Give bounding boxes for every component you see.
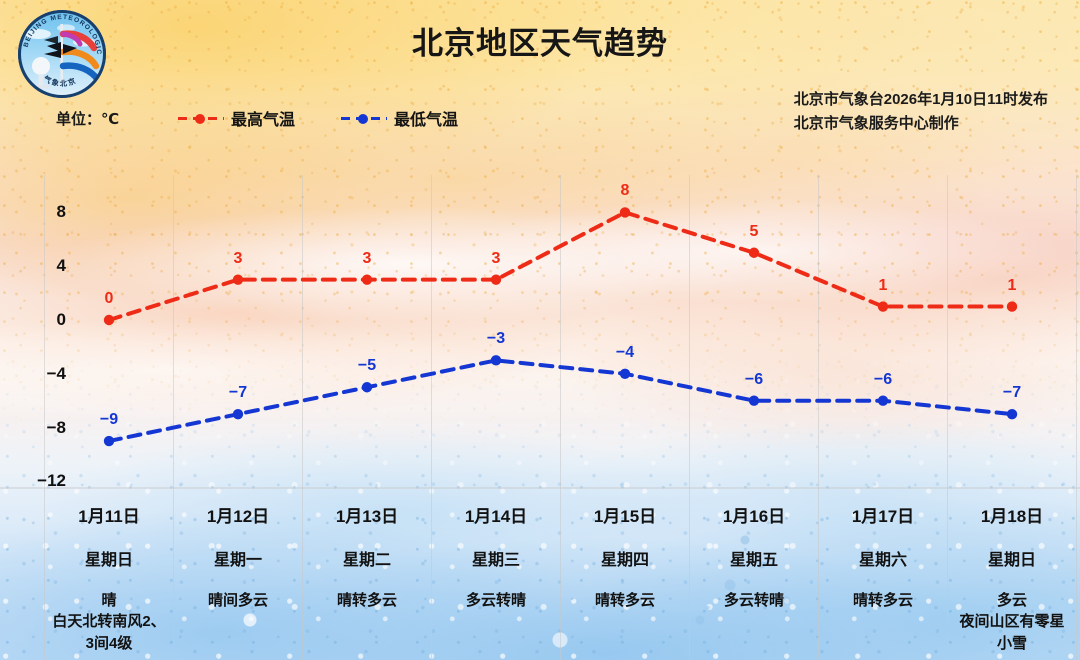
day-columns: 1月11日星期日晴白天北转南风2、3间4级1月12日星期一晴间多云1月13日星期… [0, 493, 1080, 660]
data-label-high: 1 [879, 277, 888, 295]
legend-item-low: 最低气温 [341, 106, 458, 130]
legend-item-high: 最高气温 [178, 106, 295, 130]
data-label-low: −3 [487, 330, 505, 348]
day-column: 1月17日星期六晴转多云 [819, 493, 948, 611]
day-weather-description: 晴间多云 [174, 590, 303, 611]
day-column: 1月18日星期日多云夜间山区有零星小雪 [948, 493, 1077, 654]
day-weather-description: 晴白天北转南风2、3间4级 [45, 590, 174, 654]
day-date: 1月15日 [561, 502, 690, 527]
day-date: 1月13日 [303, 502, 432, 527]
day-date: 1月12日 [174, 502, 303, 527]
day-weekday: 星期三 [432, 546, 561, 570]
day-weekday: 星期四 [561, 546, 690, 570]
data-label-high: 3 [363, 250, 372, 268]
day-weather-description: 晴转多云 [303, 590, 432, 611]
day-weather-description: 多云夜间山区有零星小雪 [948, 590, 1077, 654]
day-weekday: 星期五 [690, 546, 819, 570]
legend-label-low: 最低气温 [394, 106, 458, 130]
data-label-high: 3 [234, 250, 243, 268]
legend-marker-high-icon [178, 111, 224, 125]
day-column: 1月13日星期二晴转多云 [303, 493, 432, 611]
y-axis-tick-label: −8 [6, 418, 66, 438]
day-weather-description: 晴转多云 [819, 590, 948, 611]
y-axis-tick-label: 8 [6, 202, 66, 222]
day-date: 1月11日 [45, 502, 174, 527]
day-date: 1月16日 [690, 502, 819, 527]
day-date: 1月14日 [432, 502, 561, 527]
chart-legend: 最高气温 最低气温 [178, 106, 458, 130]
unit-label: 单位：℃ [56, 108, 119, 129]
day-date: 1月17日 [819, 502, 948, 527]
y-axis-tick-label: −12 [6, 471, 66, 491]
issuer-info: 北京市气象台2026年1月10日11时发布 北京市气象服务中心制作 [794, 88, 1048, 137]
issuer-line-2: 北京市气象服务中心制作 [794, 112, 1048, 136]
day-weekday: 星期二 [303, 546, 432, 570]
data-label-high: 1 [1008, 277, 1017, 295]
day-column: 1月14日星期三多云转晴 [432, 493, 561, 611]
data-label-low: −6 [745, 371, 763, 389]
day-date: 1月18日 [948, 502, 1077, 527]
day-weekday: 星期六 [819, 546, 948, 570]
data-label-high: 3 [492, 250, 501, 268]
data-label-low: −9 [100, 411, 118, 429]
day-weekday: 星期日 [45, 546, 174, 570]
data-label-high: 5 [750, 223, 759, 241]
data-label-low: −4 [616, 344, 634, 362]
y-axis-tick-label: 0 [6, 310, 66, 330]
day-column: 1月15日星期四晴转多云 [561, 493, 690, 611]
data-label-low: −7 [1003, 384, 1021, 402]
day-column: 1月16日星期五多云转晴 [690, 493, 819, 611]
data-label-low: −5 [358, 357, 376, 375]
day-column: 1月12日星期一晴间多云 [174, 493, 303, 611]
page-title: 北京地区天气趋势 [0, 18, 1080, 63]
data-label-low: −6 [874, 371, 892, 389]
day-weather-description: 晴转多云 [561, 590, 690, 611]
day-column: 1月11日星期日晴白天北转南风2、3间4级 [45, 493, 174, 654]
day-weekday: 星期一 [174, 546, 303, 570]
data-label-high: 0 [105, 290, 114, 308]
data-label-high: 8 [621, 182, 630, 200]
day-weekday: 星期日 [948, 546, 1077, 570]
issuer-line-1: 北京市气象台2026年1月10日11时发布 [794, 88, 1048, 112]
y-axis-tick-label: −4 [6, 364, 66, 384]
data-label-low: −7 [229, 384, 247, 402]
day-weather-description: 多云转晴 [690, 590, 819, 611]
legend-label-high: 最高气温 [231, 106, 295, 130]
day-weather-description: 多云转晴 [432, 590, 561, 611]
y-axis-tick-label: 4 [6, 256, 66, 276]
legend-marker-low-icon [341, 111, 387, 125]
